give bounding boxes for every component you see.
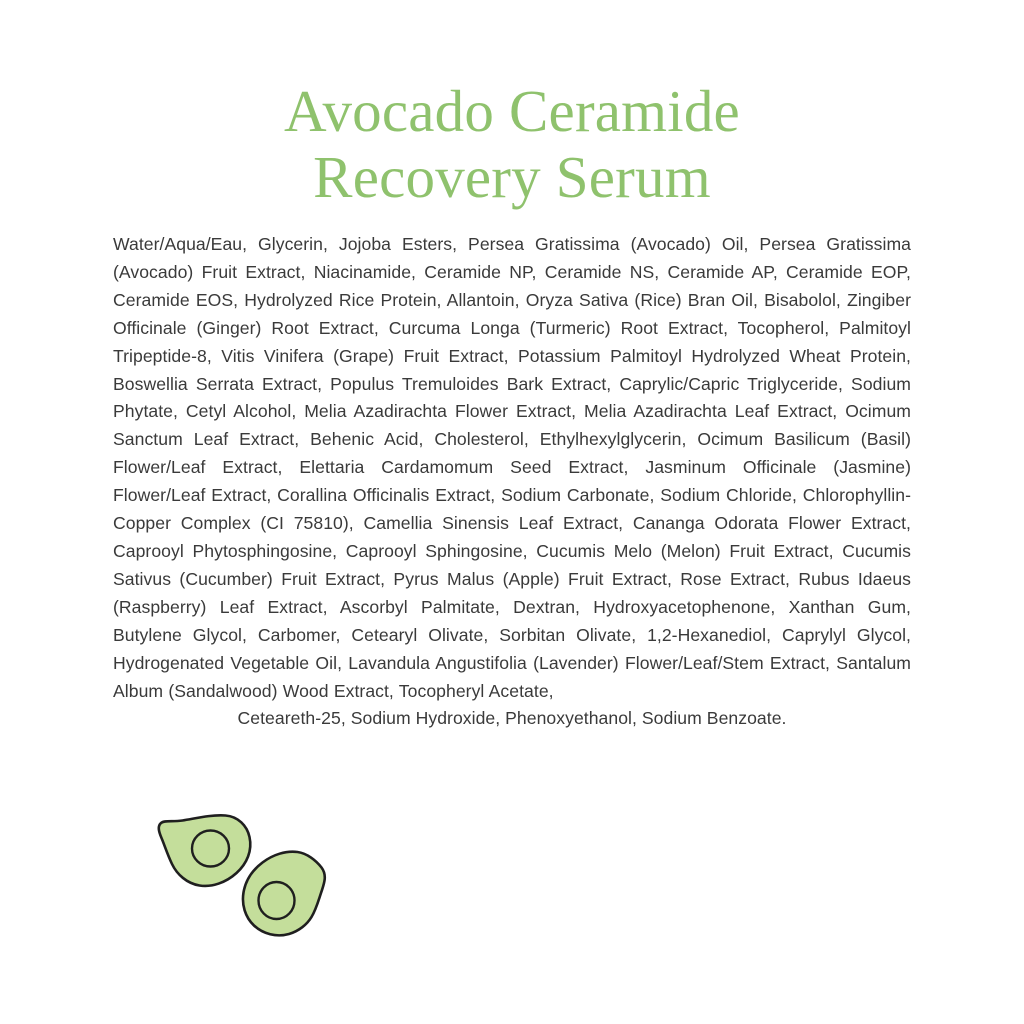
ingredients-list: Water/Aqua/Eau, Glycerin, Jojoba Esters,… [113, 231, 911, 733]
page-title-line-2: Recovery Serum [0, 144, 1024, 210]
ingredients-body-text: Water/Aqua/Eau, Glycerin, Jojoba Esters,… [113, 231, 911, 705]
ingredients-body-text-last-line: Ceteareth-25, Sodium Hydroxide, Phenoxye… [113, 705, 911, 733]
ingredient-label-page: Avocado Ceramide Recovery Serum Water/Aq… [0, 0, 1024, 1024]
page-title: Avocado Ceramide Recovery Serum [0, 78, 1024, 210]
avocado-pit-1 [192, 831, 229, 867]
avocado-halves-illustration [150, 805, 370, 950]
avocado-pit-2 [259, 882, 295, 919]
avocado-icon-2 [243, 852, 325, 936]
avocado-icon-1 [159, 815, 251, 886]
avocado-illustration-svg [150, 805, 370, 950]
page-title-line-1: Avocado Ceramide [0, 78, 1024, 144]
